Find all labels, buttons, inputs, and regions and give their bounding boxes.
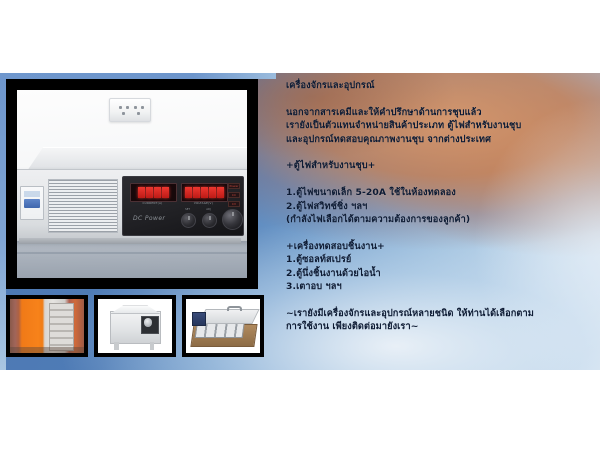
small-knob-right [202, 213, 217, 228]
copy-spacer-4 [286, 226, 594, 239]
copy-intro-line-1: นอกจากสารเคมีและให้คำปรึกษาด้านการชุบแล้… [286, 106, 594, 119]
knob-label-adj: ADJ [202, 208, 215, 211]
copy-section1-title: +ตู้ไฟสำหรับงานชุบ+ [286, 159, 594, 172]
plating-line-illustration [10, 299, 84, 353]
current-display-label: CURRENT(A) [132, 201, 173, 205]
copy-intro-line-3: และอุปกรณ์ทดสอบคุณภาพงานชุบ จากต่างประเท… [286, 133, 594, 146]
copy-spacer-3 [286, 173, 594, 186]
ventilation-grille-icon [48, 179, 118, 233]
current-display [130, 183, 177, 202]
device-brand-label: DC Power [133, 215, 165, 222]
thumbnail-steam-tank-oven-inner [186, 299, 260, 353]
copy-section2-title: +เครื่องทดสอบชิ้นงาน+ [286, 240, 594, 253]
main-product-photo-inner: CURRENT(A) VOLTAGE(V) Power CC CV DC Pow… [17, 90, 247, 278]
thumbnail-plating-line-cabinet-inner [10, 299, 84, 353]
page-root: CURRENT(A) VOLTAGE(V) Power CC CV DC Pow… [0, 0, 600, 450]
circuit-breaker-icon [20, 186, 44, 220]
copy-section2-item-3: 3.เตาอบ ฯลฯ [286, 280, 594, 293]
voltage-display [181, 183, 228, 202]
main-product-photo[interactable]: CURRENT(A) VOLTAGE(V) Power CC CV DC Pow… [6, 79, 258, 289]
knob-label-set: SET [181, 208, 194, 211]
indicator-lamp-cc: CC [228, 192, 240, 198]
small-knob-left [181, 213, 196, 228]
copy-closing-line-2: การใช้งาน เพียงติดต่อมายังเรา~ [286, 320, 594, 333]
thumbnail-salt-spray-chamber-inner [98, 299, 172, 353]
wall-outlet-icon [109, 98, 151, 122]
copy-section2-item-2: 2.ตู้นึ่งชิ้นงานด้วยไอน้ำ [286, 267, 594, 280]
thumbnail-steam-tank-oven[interactable] [182, 295, 264, 357]
thumbnail-salt-spray-chamber[interactable] [94, 295, 176, 357]
psu-front-face: CURRENT(A) VOLTAGE(V) Power CC CV DC Pow… [17, 169, 247, 241]
promo-copy: เครื่องจักรและอุปกรณ์ นอกจากสารเคมีและให… [286, 79, 594, 334]
indicator-lamp-cv: CV [228, 201, 240, 207]
psu-control-panel: CURRENT(A) VOLTAGE(V) Power CC CV DC Pow… [122, 176, 244, 236]
copy-closing-line-1: ~เรายังมีเครื่องจักรและอุปกรณ์หลายชนิด ใ… [286, 307, 594, 320]
psu-base-shadow [19, 238, 241, 244]
steam-tank-oven-illustration [186, 299, 260, 353]
copy-section2-item-1: 1.ตู้ซอลท์สเปรย์ [286, 253, 594, 266]
copy-intro-line-2: เรายังเป็นตัวแทนจำหน่ายสินค้าประเภท ตู้ไ… [286, 119, 594, 132]
large-adjust-knob [222, 209, 243, 230]
copy-section1-item-2: 2.ตู้ไฟสวิทช์ชิ่ง ฯลฯ [286, 200, 594, 213]
voltage-display-label: VOLTAGE(V) [183, 201, 224, 205]
copy-spacer-2 [286, 146, 594, 159]
promo-banner: CURRENT(A) VOLTAGE(V) Power CC CV DC Pow… [0, 73, 600, 370]
salt-spray-chamber-illustration [98, 299, 172, 353]
dc-power-supply-unit: CURRENT(A) VOLTAGE(V) Power CC CV DC Pow… [17, 169, 247, 249]
copy-section1-item-1: 1.ตู้ไฟขนาดเล็ก 5-20A ใช้ในห้องทดลอง [286, 186, 594, 199]
photo-counter-edge-secondary [17, 252, 247, 254]
indicator-lamp-power: Power [228, 183, 240, 189]
copy-section1-item-3: (กำลังไฟเลือกได้ตามความต้องการของลูกค้า) [286, 213, 594, 226]
copy-spacer-5 [286, 293, 594, 306]
copy-heading: เครื่องจักรและอุปกรณ์ [286, 79, 594, 92]
thumbnail-strip [6, 295, 268, 357]
copy-spacer-1 [286, 92, 594, 105]
indicator-lamp-group: Power CC CV [228, 183, 240, 207]
thumbnail-plating-line-cabinet[interactable] [6, 295, 88, 357]
